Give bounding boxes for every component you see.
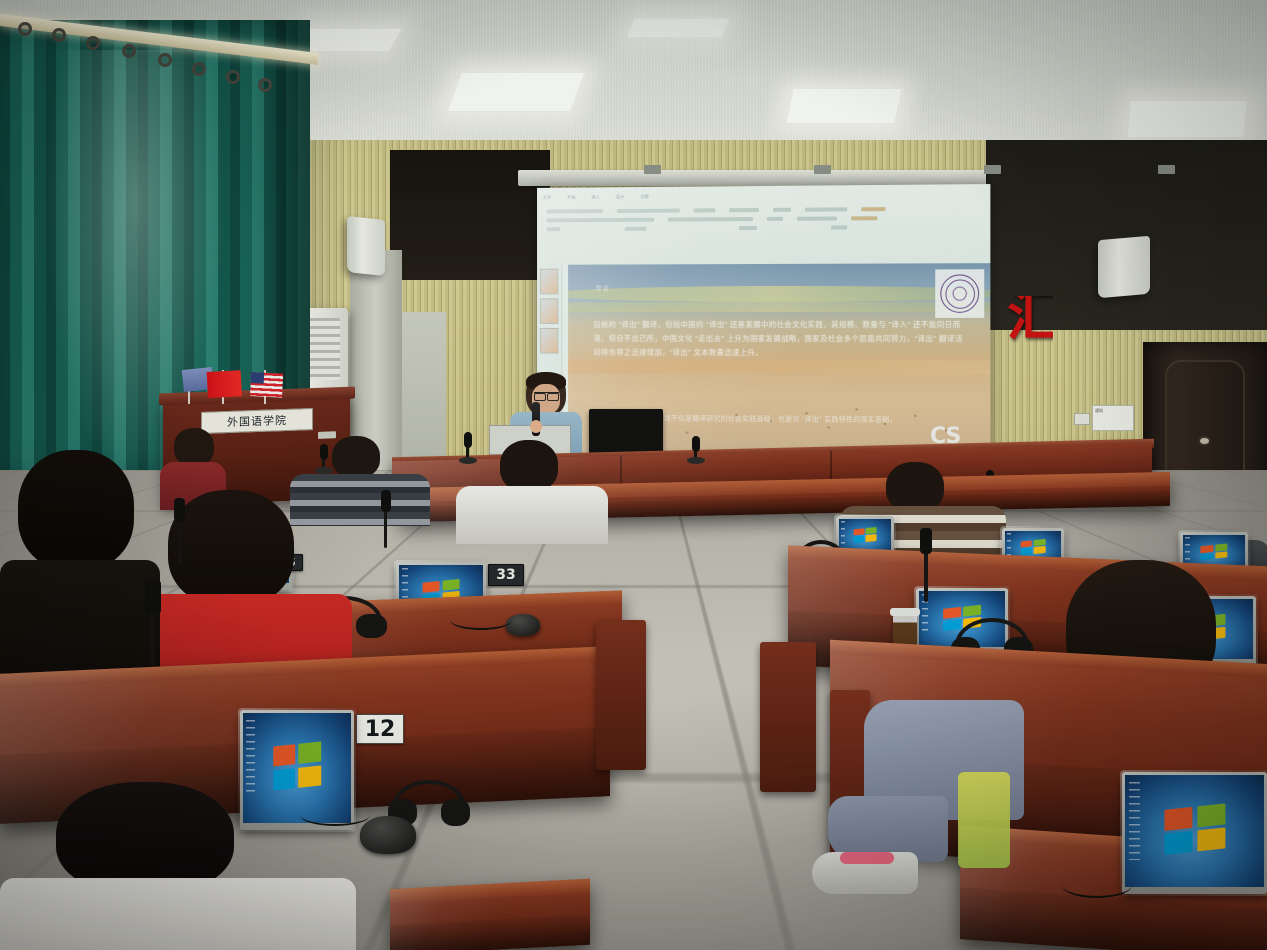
- windows-logo-icon: [854, 527, 877, 543]
- slide-body-text: 目前的 "译出" 翻译，包括中国的 "译出" 还是发展中的社会文化实践，其规模、…: [593, 318, 970, 361]
- student-foreground-left-white: [0, 782, 356, 950]
- student-head: [168, 490, 294, 606]
- windows-logo-icon: [1200, 544, 1227, 561]
- flag-china: [207, 370, 242, 398]
- ceiling-light-panel: [626, 18, 730, 38]
- curtain-ring: [158, 53, 172, 67]
- university-seal-icon: [940, 274, 979, 313]
- curtain-ring: [192, 62, 206, 76]
- windows-logo-icon: [1021, 539, 1046, 555]
- slide-thumbnail: [540, 328, 558, 354]
- ceiling-light-panel: [1126, 100, 1247, 138]
- curtain-ring: [226, 70, 240, 84]
- student-torso: [0, 878, 356, 950]
- wall-switch-plate[interactable]: [1074, 413, 1090, 425]
- flag-group-podium: [178, 352, 296, 404]
- mouse[interactable]: [360, 816, 416, 854]
- powerpoint-ribbon: [547, 206, 985, 249]
- student-torso: [456, 486, 608, 544]
- menu-item: 文件: [543, 195, 552, 201]
- student-center-white: [456, 440, 608, 540]
- student-head: [174, 428, 214, 466]
- slide-thumbnail: [540, 298, 558, 324]
- menu-item: 切换: [640, 194, 649, 200]
- lecture-room-photo: 文件 开始 插入 设计 切换: [0, 0, 1267, 950]
- desk-number-plate: 33: [488, 564, 524, 586]
- slide-logo: [935, 269, 984, 318]
- door-knob[interactable]: [1200, 438, 1209, 444]
- student-head: [886, 462, 944, 512]
- ceiling-light-panel: [785, 88, 903, 124]
- slide-thumbnail: [540, 269, 558, 295]
- powerpoint-menubar: 文件 开始 插入 设计 切换: [543, 194, 649, 201]
- curtain-ring: [122, 44, 136, 58]
- student-head: [18, 450, 134, 570]
- flag-united-states: [250, 372, 283, 398]
- wall-speaker: [347, 216, 385, 276]
- desk-number-plate: 12: [356, 714, 404, 744]
- curtain-ring: [18, 22, 32, 36]
- housing-clip: [814, 165, 831, 174]
- monitor-screen: [1125, 775, 1264, 887]
- student-head: [500, 440, 558, 492]
- wall-notice-board: 通知: [1092, 405, 1134, 431]
- windows-logo-icon: [1164, 803, 1225, 854]
- wall-red-character-sign: 汇: [1007, 296, 1053, 376]
- curtain-ring: [52, 28, 66, 42]
- shoe-stripe: [840, 852, 894, 864]
- projector-screen-housing: [518, 170, 986, 186]
- tote-bag: [958, 772, 1010, 868]
- student-foreground-right-seated: [808, 700, 1038, 950]
- drink-cup-lid: [890, 608, 920, 616]
- cable: [450, 610, 512, 630]
- housing-clip: [1158, 165, 1175, 174]
- ceiling-light-panel: [447, 72, 586, 112]
- menu-item: 插入: [591, 194, 600, 200]
- desk-row-foreground-left: [390, 879, 590, 950]
- menu-item: 开始: [567, 195, 576, 201]
- glasses-icon: [534, 392, 559, 398]
- curtain-ring: [86, 36, 100, 50]
- chair[interactable]: [596, 620, 646, 770]
- student-monitor[interactable]: [1122, 772, 1267, 894]
- powerpoint-editor-chrome: 文件 开始 插入 设计 切换: [537, 184, 990, 265]
- housing-clip: [644, 165, 661, 174]
- housing-clip: [984, 165, 1001, 174]
- cable: [1062, 872, 1132, 898]
- menu-item: 设计: [616, 194, 625, 200]
- curtain-ring: [258, 78, 272, 92]
- wall-speaker: [1098, 236, 1150, 299]
- presenter-hand: [530, 420, 542, 433]
- student-head: [332, 436, 380, 478]
- slide-kicker-text: 导言: [595, 282, 610, 292]
